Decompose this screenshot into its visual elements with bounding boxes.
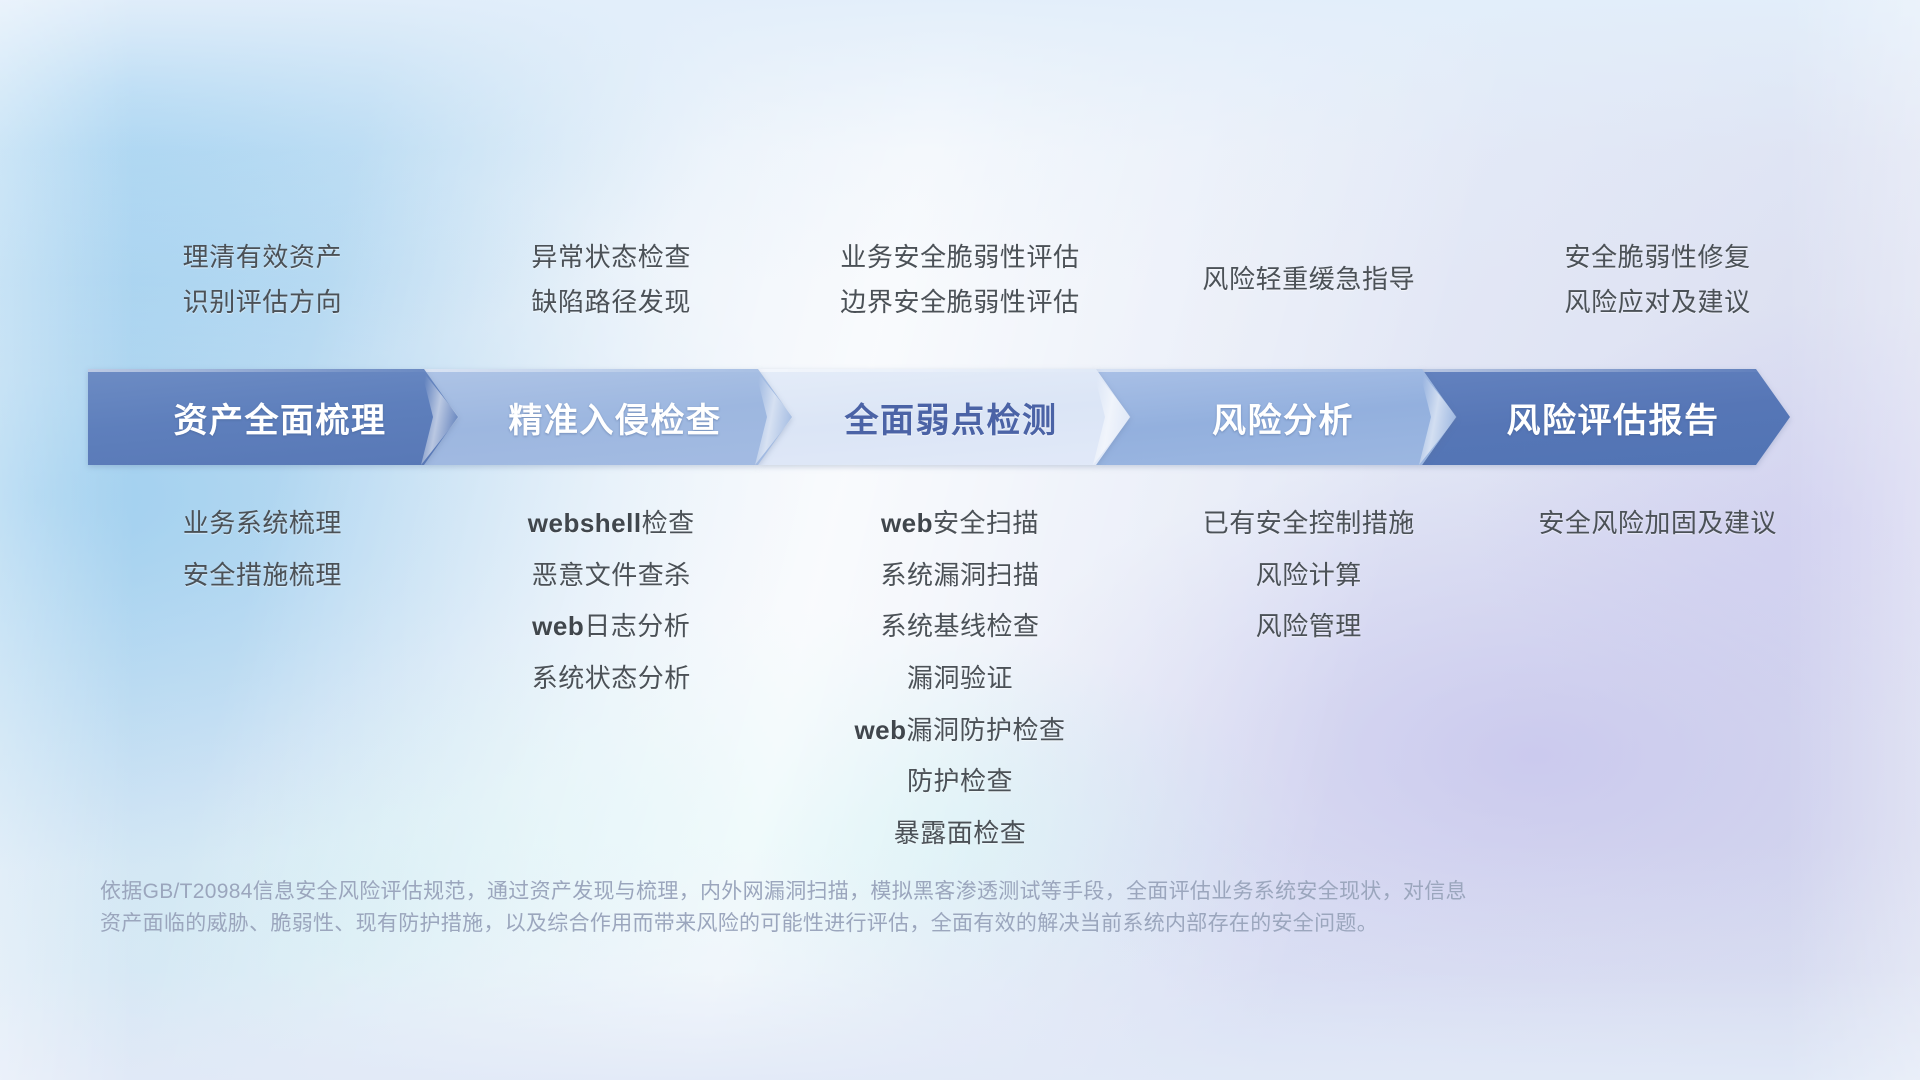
list-item: webshell检查 [528, 505, 695, 543]
list-item: 安全措施梳理 [183, 557, 342, 595]
list-item: 防护检查 [907, 763, 1013, 801]
stage-outputs-row: 业务系统梳理 安全措施梳理 webshell检查 恶意文件查杀 web日志分析 … [88, 505, 1832, 853]
list-item: 风险管理 [1256, 608, 1362, 646]
caption-text: 识别评估方向 [183, 289, 343, 315]
caption-text: 业务安全脆弱性评估 [840, 244, 1079, 270]
stage-4-outputs: 已有安全控制措施 风险计算 风险管理 [1134, 505, 1483, 646]
caption-text: 风险应对及建议 [1564, 289, 1750, 315]
stage-3-outputs: web安全扫描 系统漏洞扫描 系统基线检查 漏洞验证 web漏洞防护检查 防护检… [786, 505, 1135, 853]
caption-text: 缺陷路径发现 [531, 289, 691, 315]
stage-1-outputs: 业务系统梳理 安全措施梳理 [88, 505, 437, 594]
footnote-line-1: 依据GB/T20984信息安全风险评估规范，通过资产发现与梳理，内外网漏洞扫描，… [100, 876, 1660, 908]
caption-text: 异常状态检查 [531, 244, 691, 270]
list-item: 业务系统梳理 [183, 505, 342, 543]
list-item: 恶意文件查杀 [532, 557, 691, 595]
footnote-line-2: 资产面临的威胁、脆弱性、现有防护措施，以及综合作用而带来风险的可能性进行评估，全… [100, 908, 1660, 940]
chevron-label: 风险评估报告 [1493, 393, 1720, 442]
list-item: 风险计算 [1256, 557, 1362, 595]
list-item: 暴露面检查 [894, 815, 1027, 853]
list-item: 已有安全控制措施 [1203, 505, 1415, 543]
stage-3-inputs: 业务安全脆弱性评估 边界安全脆弱性评估 [786, 244, 1135, 315]
list-item: web安全扫描 [881, 505, 1039, 543]
chevron-label: 风险分析 [1198, 393, 1354, 442]
diagram-content: 理清有效资产 识别评估方向 异常状态检查 缺陷路径发现 业务安全脆弱性评估 边界… [0, 0, 1920, 1080]
stage-inputs-row: 理清有效资产 识别评估方向 异常状态检查 缺陷路径发现 业务安全脆弱性评估 边界… [88, 244, 1832, 315]
list-item: 系统漏洞扫描 [880, 557, 1039, 595]
stage-5-inputs: 安全脆弱性修复 风险应对及建议 [1483, 244, 1832, 315]
stage-4-inputs: 风险轻重缓急指导 [1134, 244, 1483, 292]
list-item: 系统基线检查 [880, 608, 1039, 646]
list-item: web日志分析 [532, 608, 690, 646]
list-item: 安全风险加固及建议 [1538, 505, 1777, 543]
list-item: 系统状态分析 [532, 660, 691, 698]
chevron-stage-1[interactable]: 资产全面梳理 [88, 369, 458, 465]
chevron-label: 全面弱点检测 [831, 393, 1058, 442]
chevron-stage-2[interactable]: 精准入侵检查 [424, 369, 792, 465]
caption-text: 风险轻重缓急指导 [1202, 266, 1415, 292]
chevron-label: 资产全面梳理 [160, 393, 387, 442]
stage-2-inputs: 异常状态检查 缺陷路径发现 [437, 244, 786, 315]
chevron-stage-4[interactable]: 风险分析 [1096, 369, 1456, 465]
chevron-label: 精准入侵检查 [495, 393, 722, 442]
chevron-stage-5[interactable]: 风险评估报告 [1422, 369, 1790, 465]
stage-1-inputs: 理清有效资产 识别评估方向 [88, 244, 437, 315]
caption-text: 边界安全脆弱性评估 [840, 289, 1079, 315]
caption-text: 安全脆弱性修复 [1564, 244, 1750, 270]
slide-canvas: 理清有效资产 识别评估方向 异常状态检查 缺陷路径发现 业务安全脆弱性评估 边界… [0, 0, 1920, 1080]
list-item: 漏洞验证 [907, 660, 1013, 698]
stage-2-outputs: webshell检查 恶意文件查杀 web日志分析 系统状态分析 [437, 505, 786, 698]
stage-5-outputs: 安全风险加固及建议 [1483, 505, 1832, 543]
chevron-stage-3[interactable]: 全面弱点检测 [758, 369, 1130, 465]
process-chevron-band: 资产全面梳理 精准入侵检查 全面弱点检测 风险分析 风险评估报告 [88, 369, 1832, 465]
list-item: web漏洞防护检查 [854, 712, 1065, 750]
caption-text: 理清有效资产 [183, 244, 343, 270]
footnote-paragraph: 依据GB/T20984信息安全风险评估规范，通过资产发现与梳理，内外网漏洞扫描，… [100, 876, 1660, 940]
